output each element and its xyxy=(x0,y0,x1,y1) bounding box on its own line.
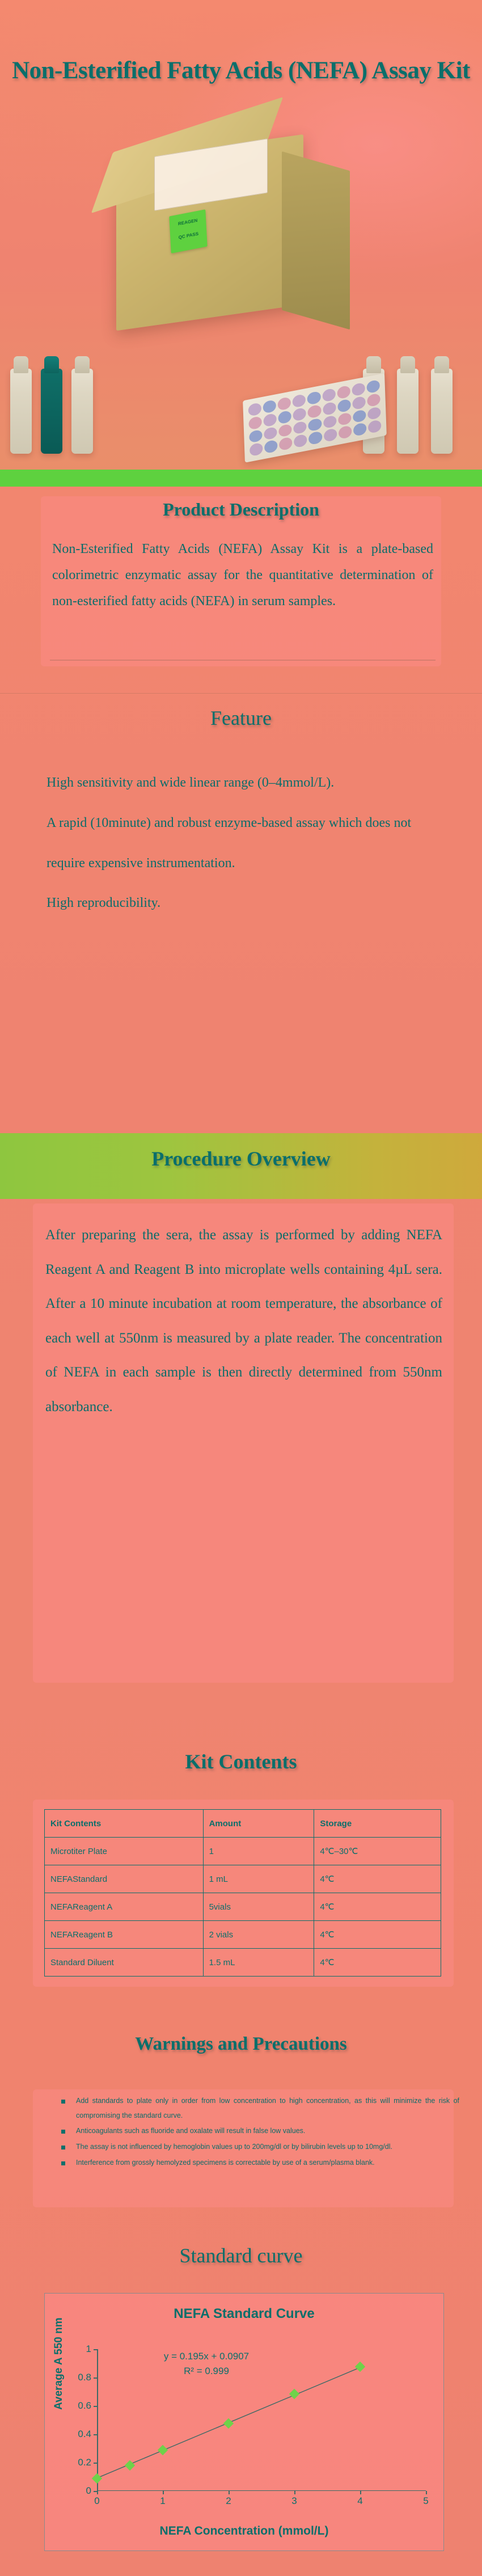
feature-item: High reproducibility. xyxy=(46,883,443,923)
chart-title: NEFA Standard Curve xyxy=(45,2306,443,2322)
list-item: Add standards to plate only in order fro… xyxy=(57,2094,459,2123)
cell-storage: 4℃ xyxy=(314,1893,441,1921)
chart-x-tick-label: 3 xyxy=(291,2495,297,2507)
cell-amount: 1 xyxy=(203,1838,314,1865)
column-header-kit-contents: Kit Contents xyxy=(45,1810,204,1838)
list-item: Anticoagulants such as fluoride and oxal… xyxy=(57,2124,459,2139)
chart-y-tick xyxy=(94,2349,97,2350)
column-header-amount: Amount xyxy=(203,1810,314,1838)
feature-heading: Feature xyxy=(0,706,482,730)
cell-storage: 4℃ xyxy=(314,1865,441,1893)
cell-item: NEFAStandard xyxy=(45,1865,204,1893)
feature-item: A rapid (10minute) and robust enzyme-bas… xyxy=(46,803,443,884)
kit-box-side-face xyxy=(282,151,350,330)
product-photo: REAGEN QC PASS xyxy=(0,136,482,454)
chart-x-tick xyxy=(426,2491,427,2494)
kit-contents-table: Kit Contents Amount Storage Microtiter P… xyxy=(44,1809,441,1977)
warnings-heading: Warnings and Precautions xyxy=(0,2034,482,2055)
chart-y-tick-label: 0 xyxy=(86,2485,91,2497)
chart-y-tick xyxy=(94,2377,97,2379)
cell-storage: 4℃ xyxy=(314,1921,441,1949)
feature-list: High sensitivity and wide linear range (… xyxy=(46,763,443,923)
reagent-vial xyxy=(10,369,32,454)
feature-item: High sensitivity and wide linear range (… xyxy=(46,763,443,803)
table-row: Microtiter Plate 1 4℃–30℃ xyxy=(45,1838,441,1865)
section-divider-green xyxy=(0,470,482,487)
table-header-row: Kit Contents Amount Storage xyxy=(45,1810,441,1838)
procedure-overview-heading: Procedure Overview xyxy=(0,1147,482,1171)
standard-curve-heading: Standard curve xyxy=(0,2244,482,2267)
chart-y-tick-label: 0.8 xyxy=(78,2372,91,2383)
cell-item: NEFAReagent B xyxy=(45,1921,204,1949)
chart-plot-area: 00.20.40.60.81012345 xyxy=(97,2349,426,2491)
chart-y-tick-label: 0.2 xyxy=(78,2457,91,2468)
infographic-page: REAGEN QC PASS Non-Esterified Fatty xyxy=(0,0,482,2576)
table-row: Standard Diluent 1.5 mL 4℃ xyxy=(45,1949,441,1977)
list-item: Interference from grossly hemolyzed spec… xyxy=(57,2156,459,2170)
procedure-overview-body: After preparing the sera, the assay is p… xyxy=(45,1218,442,1424)
reagent-vial xyxy=(397,369,418,454)
cell-amount: 2 vials xyxy=(203,1921,314,1949)
chart-x-tick-label: 4 xyxy=(357,2495,362,2507)
chart-y-tick-label: 0.4 xyxy=(78,2429,91,2440)
chart-x-tick xyxy=(294,2491,295,2494)
list-item: The assay is not influenced by hemoglobi… xyxy=(57,2140,459,2155)
kit-contents-heading: Kit Contents xyxy=(0,1750,482,1773)
chart-x-tick xyxy=(97,2491,98,2494)
chart-y-tick xyxy=(94,2434,97,2435)
table-row: NEFAReagent B 2 vials 4℃ xyxy=(45,1921,441,1949)
product-description-heading: Product Description xyxy=(0,499,482,520)
reagent-vial xyxy=(71,369,93,454)
chart-x-axis-label: NEFA Concentration (mmol/L) xyxy=(45,2524,443,2538)
cell-amount: 1.5 mL xyxy=(203,1949,314,1977)
page-title: Non-Esterified Fatty Acids (NEFA) Assay … xyxy=(0,57,482,85)
chart-x-tick-label: 5 xyxy=(423,2495,428,2507)
product-description-body: Non-Esterified Fatty Acids (NEFA) Assay … xyxy=(52,536,433,614)
divider-rule xyxy=(50,660,436,661)
cell-item: NEFAReagent A xyxy=(45,1893,204,1921)
chart-x-tick-label: 0 xyxy=(94,2495,99,2507)
reagent-vial xyxy=(41,369,62,454)
cell-storage: 4℃–30℃ xyxy=(314,1838,441,1865)
hero-section: REAGEN QC PASS Non-Esterified Fatty xyxy=(0,0,482,479)
qc-pass-sticker: REAGEN QC PASS xyxy=(169,209,207,254)
chart-y-tick-label: 1 xyxy=(86,2343,91,2355)
standard-curve-chart: NEFA Standard Curve y = 0.195x + 0.0907 … xyxy=(44,2293,444,2551)
chart-y-axis-label: Average A 550 nm xyxy=(53,2317,65,2410)
cell-amount: 1 mL xyxy=(203,1865,314,1893)
chart-x-tick xyxy=(163,2491,164,2494)
chart-x-tick xyxy=(229,2491,230,2494)
table-row: NEFAStandard 1 mL 4℃ xyxy=(45,1865,441,1893)
cell-storage: 4℃ xyxy=(314,1949,441,1977)
chart-x-tick-label: 2 xyxy=(226,2495,231,2507)
chart-y-tick xyxy=(94,2406,97,2407)
chart-y-tick xyxy=(94,2463,97,2464)
chart-x-tick-label: 1 xyxy=(160,2495,165,2507)
table-row: NEFAReagent A 5vials 4℃ xyxy=(45,1893,441,1921)
divider-rule xyxy=(0,693,482,694)
column-header-storage: Storage xyxy=(314,1810,441,1838)
chart-series-layer xyxy=(97,2349,426,2491)
cell-item: Microtiter Plate xyxy=(45,1838,204,1865)
chart-x-tick xyxy=(360,2491,361,2494)
warnings-list: Add standards to plate only in order fro… xyxy=(43,2094,459,2171)
chart-y-tick-label: 0.6 xyxy=(78,2400,91,2412)
reagent-vial xyxy=(431,369,453,454)
cell-item: Standard Diluent xyxy=(45,1949,204,1977)
cell-amount: 5vials xyxy=(203,1893,314,1921)
